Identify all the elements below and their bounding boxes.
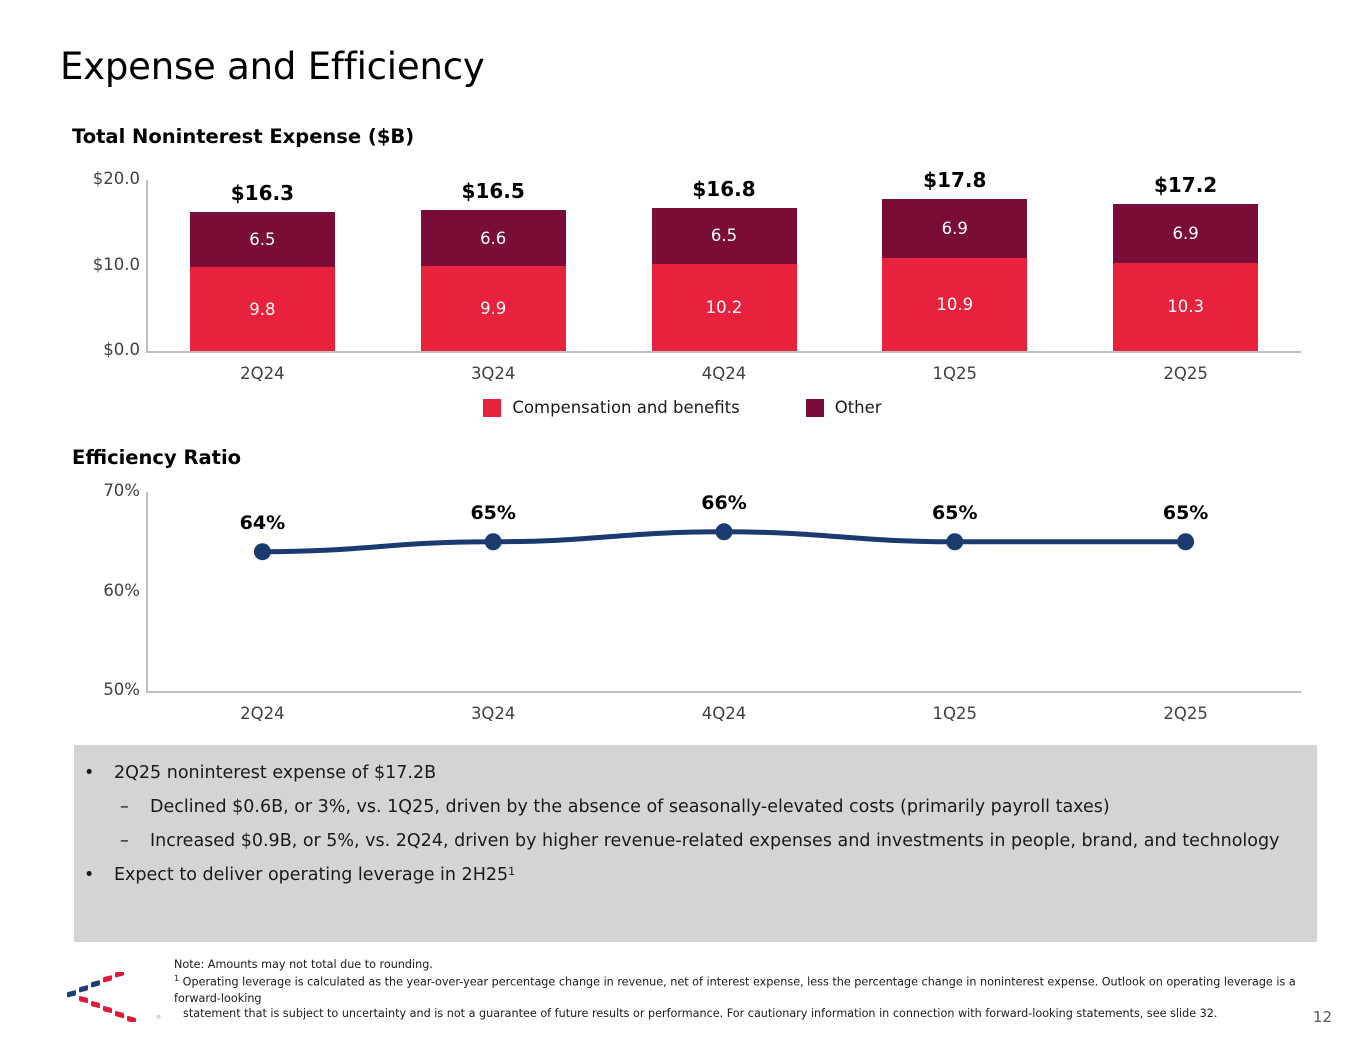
- efficiency-ratio-line-chart: 50%60%70% 64%65%66%65%65% 2Q243Q244Q241Q…: [0, 488, 1365, 698]
- footnote-note: Note: Amounts may not total due to round…: [174, 957, 1304, 973]
- bullet-item: –Declined $0.6B, or 3%, vs. 1Q25, driven…: [120, 797, 1110, 817]
- bullet-text: Increased $0.9B, or 5%, vs. 2Q24, driven…: [150, 831, 1279, 851]
- bar-total-label: $16.8: [652, 177, 797, 201]
- bar-segment-compensation: 9.8: [190, 267, 335, 351]
- noninterest-expense-bar-chart: $0.0$10.0$20.0 $16.36.59.8$16.56.69.9$16…: [0, 170, 1365, 385]
- bar-chart-y-axis: [146, 180, 148, 352]
- bullet-text: Declined $0.6B, or 3%, vs. 1Q25, driven …: [150, 797, 1110, 817]
- bar-segment-other: 6.5: [190, 212, 335, 268]
- line-data-point-3Q24: [485, 533, 502, 550]
- line-x-tick-2Q25: 2Q25: [1126, 704, 1246, 723]
- page-title: Expense and Efficiency: [60, 45, 485, 88]
- bar-column: $16.36.59.8: [190, 170, 335, 351]
- bar-total-label: $17.2: [1113, 173, 1258, 197]
- bar-column: $17.26.910.3: [1113, 170, 1258, 351]
- bullet-marker-icon: •: [84, 763, 114, 783]
- line-value-label-2Q25: 65%: [1126, 502, 1246, 524]
- bar-x-tick-3Q24: 3Q24: [433, 364, 553, 383]
- bar-column: $16.56.69.9: [421, 170, 566, 351]
- bar-segment-other: 6.9: [882, 199, 1027, 258]
- bullet-footnote-marker: 1: [508, 865, 515, 885]
- bar-chart-x-axis: [146, 351, 1301, 353]
- bar-segment-other: 6.6: [421, 210, 566, 266]
- bar-segment-compensation: 10.3: [1113, 263, 1258, 351]
- bar-x-tick-2Q24: 2Q24: [202, 364, 322, 383]
- line-data-point-1Q25: [946, 533, 963, 550]
- bar-x-tick-2Q25: 2Q25: [1126, 364, 1246, 383]
- bar-segment-compensation: 9.9: [421, 266, 566, 351]
- legend-item: Compensation and benefits: [483, 398, 739, 417]
- bullet-text: Expect to deliver operating leverage in …: [114, 865, 508, 885]
- legend-item: Other: [806, 398, 882, 417]
- bar-y-tick-2: $20.0: [62, 169, 140, 188]
- line-value-label-2Q24: 64%: [202, 512, 322, 534]
- bullet-item: –Increased $0.9B, or 5%, vs. 2Q24, drive…: [120, 831, 1279, 851]
- line-x-tick-1Q25: 1Q25: [895, 704, 1015, 723]
- line-data-point-2Q24: [254, 543, 271, 560]
- line-data-point-2Q25: [1177, 533, 1194, 550]
- legend-label: Compensation and benefits: [512, 398, 739, 417]
- line-value-label-1Q25: 65%: [895, 502, 1015, 524]
- bar-segment-compensation: 10.2: [652, 264, 797, 351]
- page-number: 12: [1313, 1008, 1332, 1026]
- commentary-panel: •2Q25 noninterest expense of $17.2B–Decl…: [74, 745, 1317, 942]
- footnote-1: 1 Operating leverage is calculated as th…: [174, 973, 1304, 1022]
- bank-of-america-logo: ®: [64, 972, 166, 1022]
- footnote-marker: 1: [174, 974, 179, 983]
- bullet-marker-icon: •: [84, 865, 114, 885]
- line-chart-heading: Efficiency Ratio: [72, 446, 241, 469]
- line-x-tick-3Q24: 3Q24: [433, 704, 553, 723]
- svg-text:®: ®: [156, 1014, 161, 1021]
- line-data-point-4Q24: [716, 523, 733, 540]
- legend-swatch-icon: [483, 399, 501, 417]
- bar-chart-heading: Total Noninterest Expense ($B): [72, 125, 414, 148]
- bullet-marker-icon: –: [120, 797, 150, 817]
- bar-column: $16.86.510.2: [652, 170, 797, 351]
- legend-label: Other: [835, 398, 882, 417]
- bar-total-label: $16.5: [421, 179, 566, 203]
- bar-y-tick-0: $0.0: [62, 340, 140, 359]
- bar-y-tick-1: $10.0: [62, 255, 140, 274]
- line-x-tick-2Q24: 2Q24: [202, 704, 322, 723]
- slide-root: Expense and Efficiency Total Noninterest…: [0, 0, 1365, 1055]
- bar-segment-other: 6.5: [652, 208, 797, 264]
- line-value-label-3Q24: 65%: [433, 502, 553, 524]
- line-value-label-4Q24: 66%: [664, 492, 784, 514]
- bullet-item: •Expect to deliver operating leverage in…: [84, 865, 515, 885]
- bar-x-tick-1Q25: 1Q25: [895, 364, 1015, 383]
- bar-segment-other: 6.9: [1113, 204, 1258, 263]
- bar-chart-legend: Compensation and benefitsOther: [0, 398, 1365, 417]
- bullet-item: •2Q25 noninterest expense of $17.2B: [84, 763, 436, 783]
- bar-x-tick-4Q24: 4Q24: [664, 364, 784, 383]
- bar-total-label: $16.3: [190, 181, 335, 205]
- footnote-line-1: Operating leverage is calculated as the …: [174, 976, 1296, 1005]
- footnotes: Note: Amounts may not total due to round…: [174, 957, 1304, 1022]
- bullet-text: 2Q25 noninterest expense of $17.2B: [114, 763, 436, 783]
- footnote-line-2: statement that is subject to uncertainty…: [174, 1006, 1304, 1022]
- bar-column: $17.86.910.9: [882, 170, 1027, 351]
- line-x-tick-4Q24: 4Q24: [664, 704, 784, 723]
- legend-swatch-icon: [806, 399, 824, 417]
- bar-segment-compensation: 10.9: [882, 258, 1027, 351]
- bullet-marker-icon: –: [120, 831, 150, 851]
- bar-total-label: $17.8: [882, 168, 1027, 192]
